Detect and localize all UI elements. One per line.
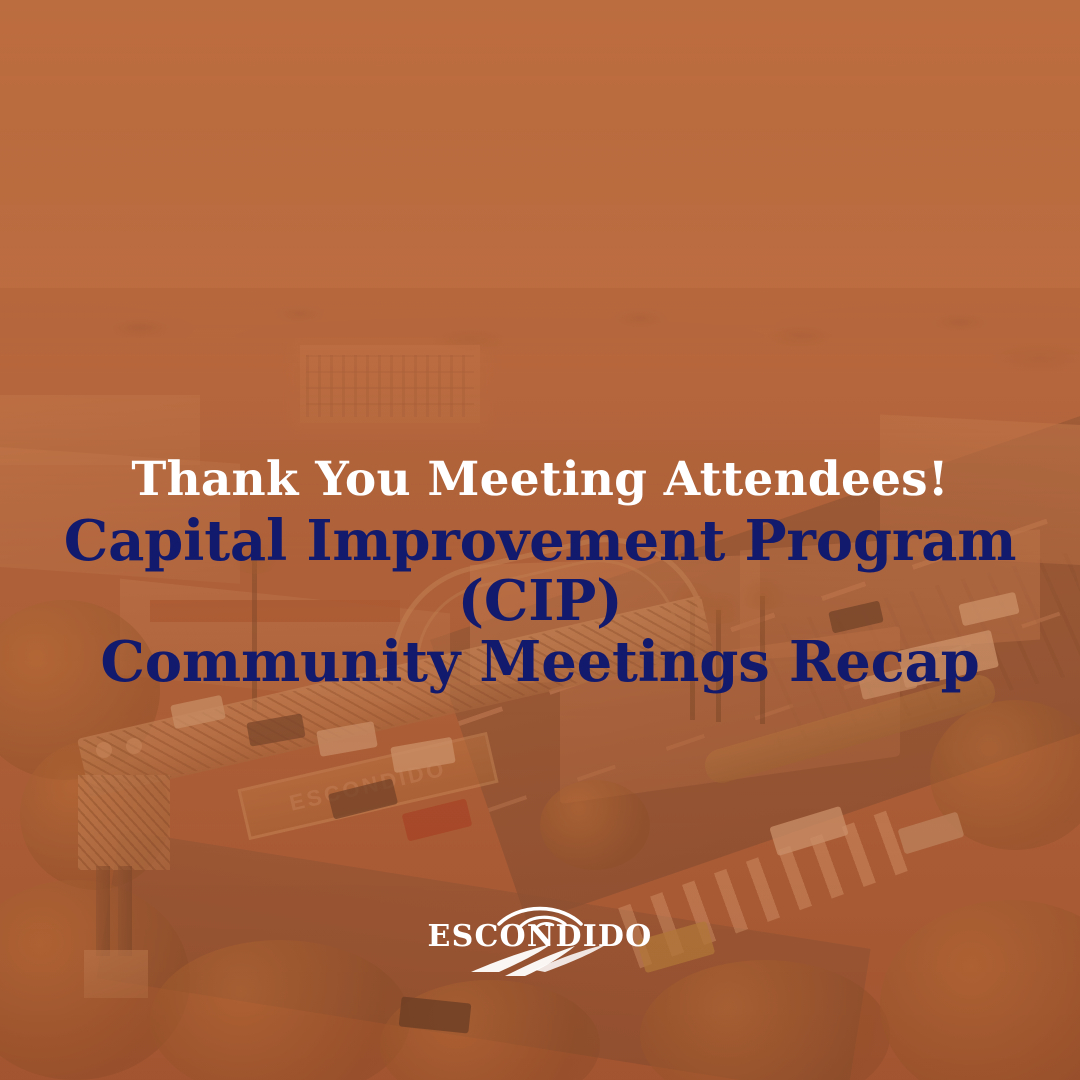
social-graphic-canvas: ESCONDIDO Thank You Meeting Attendees! bbox=[0, 0, 1080, 1080]
headline-block: Thank You Meeting Attendees! Capital Imp… bbox=[0, 455, 1080, 692]
content-layer: Thank You Meeting Attendees! Capital Imp… bbox=[0, 0, 1080, 1080]
title-line-1: Capital Improvement Program (CIP) bbox=[0, 511, 1080, 632]
kicker-text: Thank You Meeting Attendees! bbox=[0, 455, 1080, 505]
logo-wordmark: ESCONDIDO bbox=[425, 922, 655, 952]
escondido-city-logo: ESCONDIDO bbox=[425, 896, 655, 982]
page-title: Capital Improvement Program (CIP) Commun… bbox=[0, 511, 1080, 692]
title-line-2: Community Meetings Recap bbox=[0, 632, 1080, 692]
